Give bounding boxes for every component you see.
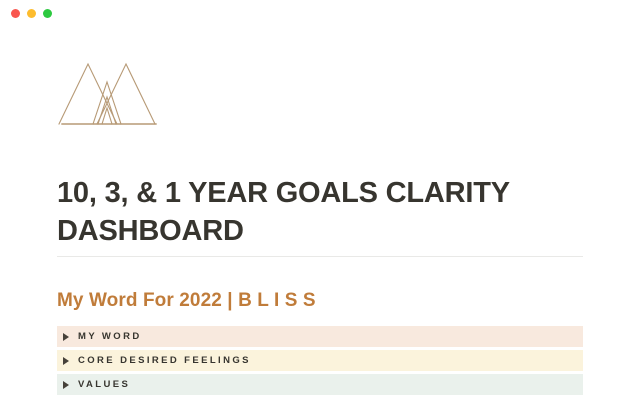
toggle-core-desired-feelings[interactable]: CORE DESIRED FEELINGS: [57, 350, 583, 371]
chevron-right-icon[interactable]: [63, 357, 69, 365]
mountain-peaks-logo-icon: [57, 52, 157, 134]
page-title: 10, 3, & 1 YEAR GOALS CLARITY DASHBOARD: [57, 174, 557, 251]
toggle-my-word[interactable]: MY WORD: [57, 326, 583, 347]
toggle-list: MY WORD CORE DESIRED FEELINGS VALUES: [57, 326, 583, 398]
window-close-button[interactable]: [11, 9, 20, 18]
chevron-right-icon[interactable]: [63, 381, 69, 389]
toggle-label: MY WORD: [78, 331, 142, 342]
chevron-right-icon[interactable]: [63, 333, 69, 341]
toggle-label: VALUES: [78, 379, 130, 390]
header-divider: [57, 256, 583, 257]
toggle-values[interactable]: VALUES: [57, 374, 583, 395]
toggle-label: CORE DESIRED FEELINGS: [78, 355, 251, 366]
window-titlebar: [0, 0, 640, 26]
page-content: 10, 3, & 1 YEAR GOALS CLARITY DASHBOARD …: [0, 26, 640, 400]
window-minimize-button[interactable]: [27, 9, 36, 18]
word-of-the-year-heading: My Word For 2022 | B L I S S: [57, 290, 316, 312]
window-maximize-button[interactable]: [43, 9, 52, 18]
